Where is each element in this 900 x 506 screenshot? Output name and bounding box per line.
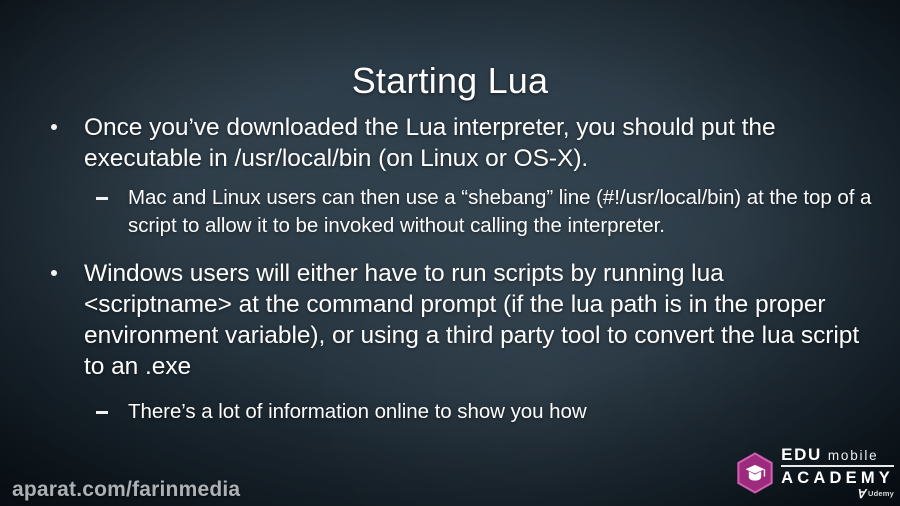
graduation-cap-hexagon-icon: [736, 452, 774, 494]
bullet-text: There’s a lot of information online to s…: [128, 400, 587, 423]
logo-top-row: EDU mobile: [781, 446, 894, 465]
bullet-item-level2: There’s a lot of information online to s…: [44, 398, 874, 426]
logo-academy-text: ACADEMY: [781, 467, 894, 487]
slide-canvas: Starting Lua Once you’ve downloaded the …: [0, 0, 900, 506]
bullet-item-level1: Once you’ve downloaded the Lua interpret…: [44, 112, 874, 174]
bullet-text: Windows users will either have to run sc…: [84, 260, 859, 380]
bullet-item-level1: Windows users will either have to run sc…: [44, 258, 874, 382]
logo-wordmark: EDU mobile ACADEMY Ɐ Udemy: [781, 446, 894, 500]
edu-mobile-academy-logo: EDU mobile ACADEMY Ɐ Udemy: [736, 446, 894, 500]
logo-edu-text: EDU: [781, 446, 822, 463]
bullet-dot-icon: [51, 124, 57, 130]
logo-mobile-text: mobile: [828, 449, 879, 463]
bullet-dot-icon: [51, 270, 57, 276]
udemy-text: Udemy: [868, 490, 894, 498]
slide-title: Starting Lua: [0, 60, 900, 102]
site-watermark: aparat.com/farinmedia: [12, 478, 240, 502]
bullet-text: Once you’ve downloaded the Lua interpret…: [84, 114, 776, 172]
slide-body: Once you’ve downloaded the Lua interpret…: [44, 112, 874, 432]
udemy-u-icon: Ɐ: [857, 488, 865, 500]
udemy-attribution: Ɐ Udemy: [781, 486, 894, 500]
bullet-dash-icon: [96, 197, 108, 200]
bullet-dash-icon: [96, 411, 108, 414]
bullet-text: Mac and Linux users can then use a “sheb…: [128, 186, 871, 237]
bullet-item-level2: Mac and Linux users can then use a “sheb…: [44, 184, 874, 240]
